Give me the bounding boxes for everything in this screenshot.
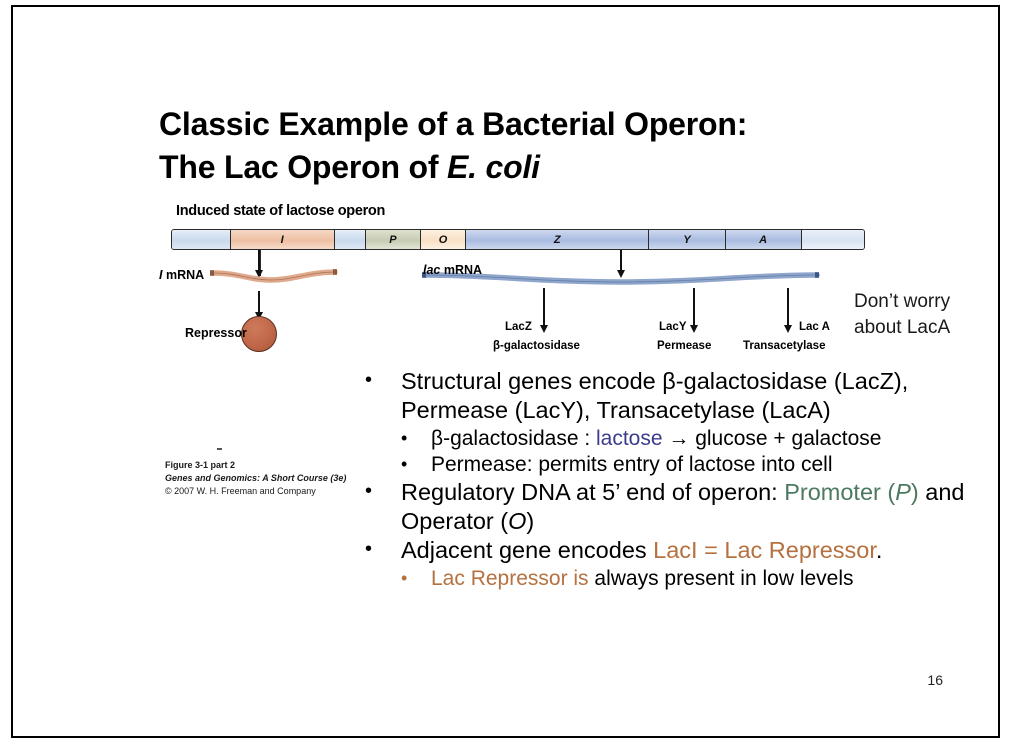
gene-segment-leader: [172, 230, 231, 249]
side-note-line-2: about LacA: [854, 315, 1000, 341]
figure-credit: Figure 3-1 part 2 Genes and Genomics: A …: [165, 459, 346, 497]
bullet-marker: •: [365, 478, 401, 505]
gene-segment-i: I: [231, 230, 335, 249]
credit-dot: [217, 448, 222, 450]
gene-segment-a: A: [726, 230, 802, 249]
page-title: Classic Example of a Bacterial Operon: T…: [159, 103, 919, 188]
title-line-1: Classic Example of a Bacterial Operon:: [159, 103, 919, 146]
credit-line-3: © 2007 W. H. Freeman and Company: [165, 485, 346, 498]
laca-label: Lac A: [799, 321, 830, 333]
bullet-item-regulatory-dna: • Regulatory DNA at 5’ end of operon: Pr…: [365, 478, 993, 537]
lactose-highlight: lactose: [596, 427, 663, 450]
title-line-2: The Lac Operon of E. coli: [159, 146, 919, 189]
promoter-close: ): [911, 479, 919, 505]
side-note: Don’t worry about LacA: [854, 289, 1000, 341]
bullet-item-beta-galactosidase: • β-galactosidase : lactose → glucose + …: [365, 426, 993, 452]
promoter-text: Promoter (: [784, 479, 895, 505]
lacz-label: LacZ: [505, 321, 532, 333]
gene-segment-y: Y: [649, 230, 725, 249]
title-line-2-italic: E. coli: [447, 149, 540, 185]
side-note-line-1: Don’t worry: [854, 289, 1000, 315]
bullet-item-adjacent-gene: • Adjacent gene encodes LacI = Lac Repre…: [365, 536, 993, 565]
gene-segment-spacer: [335, 230, 366, 249]
bullet-text-pre: Regulatory DNA at 5’ end of operon:: [401, 479, 784, 505]
slide-canvas: Classic Example of a Bacterial Operon: T…: [11, 5, 1000, 738]
laca-protein-label: Transacetylase: [743, 340, 825, 352]
bullet-marker: •: [365, 536, 401, 563]
lacz-product-arrow: [543, 288, 545, 326]
gene-map-bar: I P O Z Y A: [171, 229, 865, 250]
bullet-text-pre: β-galactosidase :: [431, 427, 596, 450]
bullet-list: • Structural genes encode β-galactosidas…: [365, 367, 993, 592]
figure-caption: Induced state of lactose operon: [176, 203, 385, 219]
repressor-label: Repressor: [185, 326, 247, 340]
bullet-text: β-galactosidase : lactose → glucose + ga…: [431, 426, 993, 452]
operator-symbol: O: [508, 508, 526, 534]
bullet-text: Lac Repressor is always present in low l…: [431, 566, 993, 592]
title-line-2-plain: The Lac Operon of: [159, 149, 447, 185]
bullet-text: Structural genes encode β-galactosidase …: [401, 367, 993, 426]
lacy-label: LacY: [659, 321, 687, 333]
bullet-text: Permease: permits entry of lactose into …: [431, 452, 993, 478]
bullet-item-structural-genes: • Structural genes encode β-galactosidas…: [365, 367, 993, 426]
bullet-item-permease: • Permease: permits entry of lactose int…: [365, 452, 993, 478]
bullet-item-lac-repressor-levels: • Lac Repressor is always present in low…: [365, 566, 993, 592]
bullet-text-post: .: [876, 537, 883, 563]
lacy-protein-label: Permease: [657, 340, 711, 352]
laci-highlight: LacI = Lac Repressor: [653, 537, 876, 563]
bullet-text-post: ): [526, 508, 534, 534]
bullet-marker: •: [401, 426, 431, 450]
lac-mrna-label-rest: mRNA: [440, 263, 482, 277]
bullet-text-rest: always present in low levels: [589, 567, 854, 590]
bullet-marker: •: [365, 367, 401, 394]
lac-repressor-highlight: Lac Repressor is: [431, 567, 589, 590]
lac-transcription-arrow: [620, 250, 622, 271]
repressor-translation-arrow: [258, 291, 260, 313]
promoter-highlight: Promoter (P): [784, 479, 919, 505]
i-mrna-label-rest: mRNA: [162, 268, 204, 282]
bullet-marker: •: [401, 452, 431, 476]
i-mrna-label: I mRNA: [159, 268, 204, 282]
i-mrna-strand: [209, 267, 339, 287]
bullet-text: Adjacent gene encodes LacI = Lac Repress…: [401, 536, 993, 565]
bullet-marker: •: [401, 566, 431, 590]
lac-mrna-label-italic: lac: [423, 263, 440, 277]
credit-line-1: Figure 3-1 part 2: [165, 459, 346, 472]
lac-mrna-label: lac mRNA: [423, 263, 482, 277]
laca-product-arrow: [787, 288, 789, 326]
gene-segment-trailer: [802, 230, 864, 249]
promoter-symbol: P: [895, 479, 911, 505]
gene-segment-o: O: [421, 230, 466, 249]
bullet-text-post: → glucose + galactose: [663, 427, 882, 450]
operon-figure: Induced state of lactose operon I P O Z …: [163, 203, 863, 373]
page-number: 16: [927, 672, 943, 688]
lacy-product-arrow: [693, 288, 695, 326]
bullet-text: Regulatory DNA at 5’ end of operon: Prom…: [401, 478, 993, 537]
gene-segment-p: P: [366, 230, 421, 249]
bullet-text-pre: Adjacent gene encodes: [401, 537, 653, 563]
gene-segment-z: Z: [466, 230, 649, 249]
credit-line-2: Genes and Genomics: A Short Course (3e): [165, 472, 346, 485]
lacz-protein-label: β-galactosidase: [493, 340, 580, 352]
